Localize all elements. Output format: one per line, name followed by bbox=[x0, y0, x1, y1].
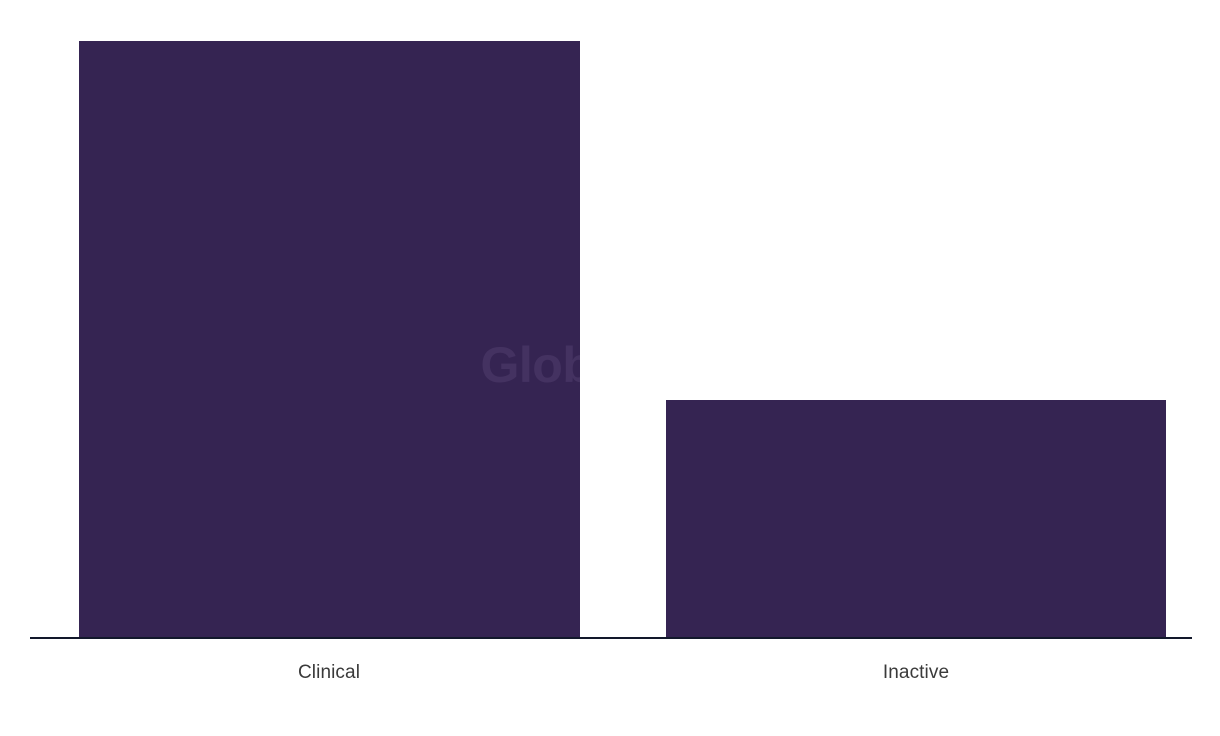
x-tick-label-inactive: Inactive bbox=[883, 660, 949, 686]
bar-inactive[interactable] bbox=[666, 400, 1166, 639]
x-axis-line bbox=[30, 637, 1192, 639]
plot-area: GlobalData Clinical Inactive bbox=[0, 0, 1220, 736]
x-tick-label-clinical: Clinical bbox=[298, 660, 360, 686]
bar-chart: GlobalData Clinical Inactive bbox=[0, 0, 1220, 736]
bars-layer bbox=[0, 0, 1220, 736]
bar-clinical[interactable] bbox=[79, 41, 580, 639]
